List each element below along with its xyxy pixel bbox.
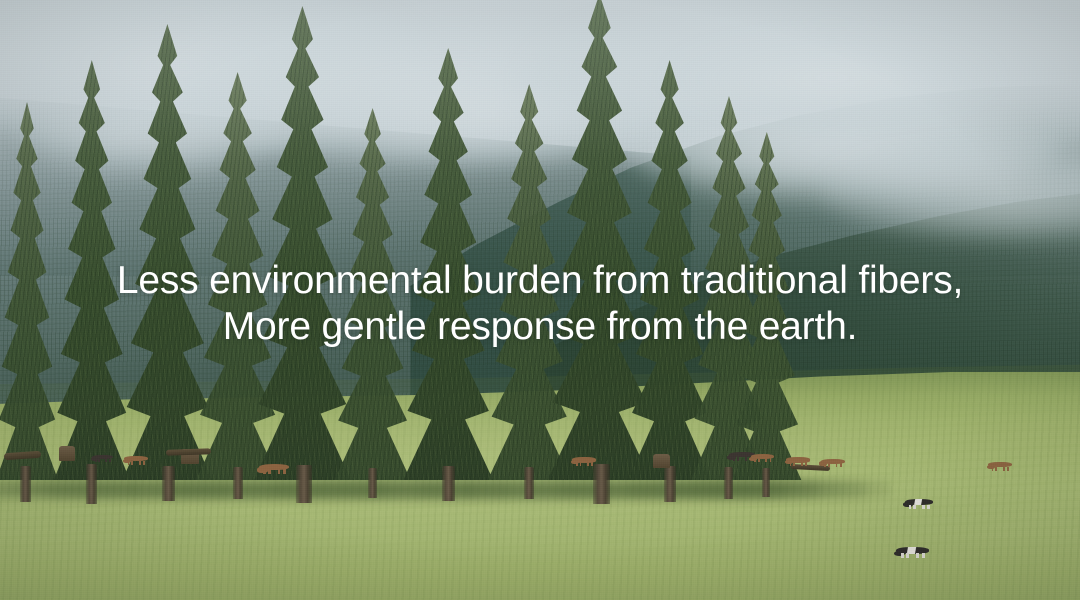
tree-trunk: [296, 465, 312, 503]
conifer-tree: [713, 132, 821, 480]
tree-trunk: [86, 464, 97, 504]
tree-trunk: [762, 468, 770, 497]
tree-trunk: [442, 466, 455, 500]
tree-crown: [713, 132, 821, 480]
hero-banner: Less environmental burden from tradition…: [0, 0, 1080, 600]
tree-trunk: [20, 466, 31, 502]
tree-needles: [713, 132, 821, 480]
tree-trunk: [368, 468, 377, 499]
background-photo: [0, 0, 1080, 600]
